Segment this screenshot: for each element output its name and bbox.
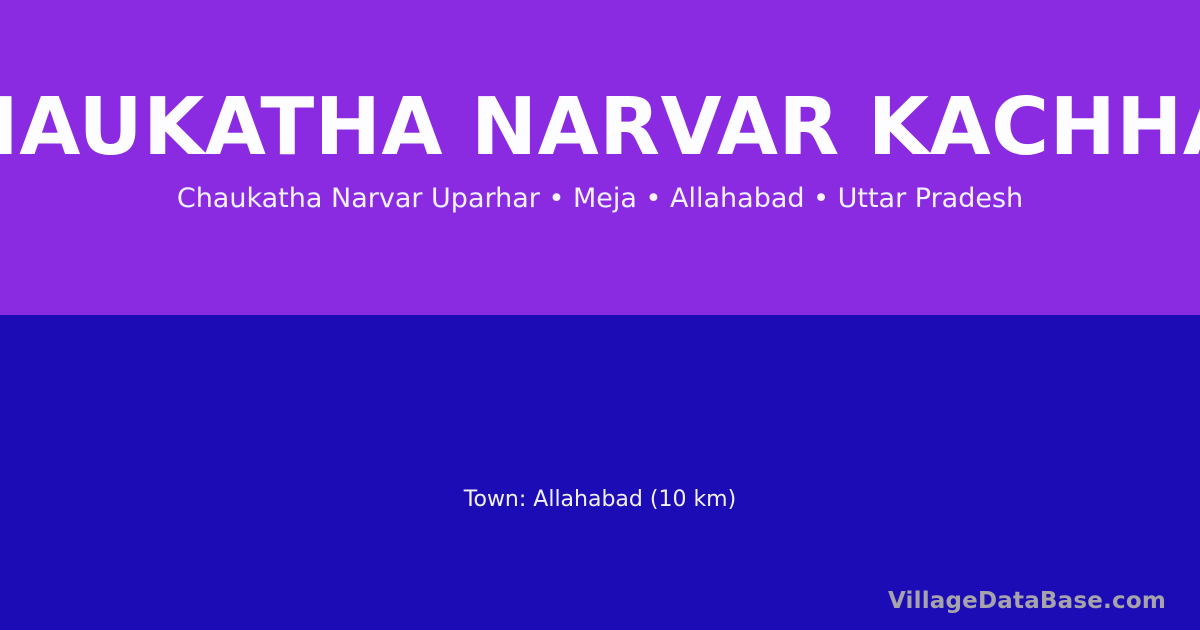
header-banner: CHAUKATHA NARVAR KACHHAR Chaukatha Narva…	[0, 0, 1200, 315]
page-title: CHAUKATHA NARVAR KACHHAR	[0, 82, 1200, 172]
title-row: CHAUKATHA NARVAR KACHHAR	[0, 82, 1200, 172]
subtitle-row: Chaukatha Narvar Uparhar • Meja • Allaha…	[0, 180, 1200, 218]
nearest-town-fact: Town: Allahabad (10 km)	[0, 485, 1200, 515]
brand-watermark: VillageDataBase.com	[888, 586, 1166, 616]
village-info-card: CHAUKATHA NARVAR KACHHAR Chaukatha Narva…	[0, 0, 1200, 630]
body-panel: Town: Allahabad (10 km) VillageDataBase.…	[0, 315, 1200, 630]
breadcrumb: Chaukatha Narvar Uparhar • Meja • Allaha…	[177, 183, 1023, 214]
